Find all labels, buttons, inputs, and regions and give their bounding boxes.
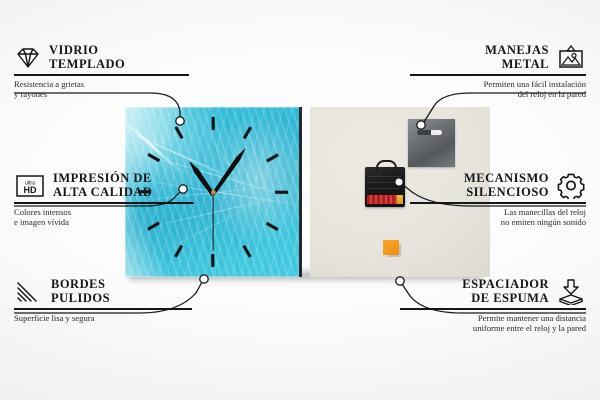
feature-manejas-metal: MANEJAS METAL Permiten una fácil instala… xyxy=(410,44,586,100)
clock-center-cap xyxy=(211,190,216,195)
feature-bordes-pulidos: BORDES PULIDOS Superficie lisa y segura xyxy=(14,278,192,323)
feature-vidrio-templado: VIDRIO TEMPLADO Resistencia a grietas y … xyxy=(14,44,189,100)
quartz-movement-box xyxy=(365,167,405,207)
feature-espaciador-espuma: ESPACIADOR DE ESPUMA Permite mantener un… xyxy=(400,278,586,334)
picture-frame-icon xyxy=(556,44,586,71)
svg-text:HD: HD xyxy=(24,185,37,195)
feature-title: VIDRIO TEMPLADO xyxy=(49,44,125,71)
feature-description: Superficie lisa y segura xyxy=(14,313,192,324)
feature-divider xyxy=(410,202,586,204)
foam-spacer-icon xyxy=(556,278,586,305)
foam-spacer-pad xyxy=(383,240,399,255)
feature-divider xyxy=(14,202,194,204)
feature-title: ESPACIADOR DE ESPUMA xyxy=(462,278,549,305)
feature-title: IMPRESIÓN DE ALTA CALIDAD xyxy=(53,172,152,199)
metal-hanger-plate xyxy=(408,119,455,167)
feature-description: Colores intensos e imagen vívida xyxy=(14,207,194,228)
feature-title: MANEJAS METAL xyxy=(485,44,549,71)
diamond-icon xyxy=(14,45,42,71)
feature-description: Permiten una fácil instalación del reloj… xyxy=(410,79,586,100)
feature-description: Las manecillas del reloj no emiten ningú… xyxy=(410,207,586,228)
feature-divider xyxy=(14,308,192,310)
tick-12 xyxy=(212,117,215,130)
hanger-slot xyxy=(417,130,442,135)
feature-title: MECANISMO SILENCIOSO xyxy=(464,172,549,199)
battery-terminal xyxy=(397,195,403,204)
polished-edge-icon xyxy=(14,280,44,304)
glass-edge xyxy=(299,107,302,277)
ultra-hd-icon: ultra HD xyxy=(14,173,46,199)
clock-second-hand xyxy=(212,193,213,251)
feature-description: Permite mantener una distancia uniforme … xyxy=(400,313,586,334)
movement-hanging-loop xyxy=(376,160,397,172)
infographic-canvas: VIDRIO TEMPLADO Resistencia a grietas y … xyxy=(0,0,600,400)
feature-divider xyxy=(410,74,586,76)
tick-6 xyxy=(212,254,215,267)
feature-impresion-alta-calidad: ultra HD IMPRESIÓN DE ALTA CALIDAD Color… xyxy=(14,172,194,228)
feature-description: Resistencia a grietas y rayones xyxy=(14,79,189,100)
feature-divider xyxy=(14,74,189,76)
gear-icon xyxy=(556,172,586,199)
tick-3 xyxy=(275,191,288,194)
feature-mecanismo-silencioso: MECANISMO SILENCIOSO Las manecillas del … xyxy=(410,172,586,228)
feature-title: BORDES PULIDOS xyxy=(51,278,110,305)
feature-divider xyxy=(400,308,586,310)
